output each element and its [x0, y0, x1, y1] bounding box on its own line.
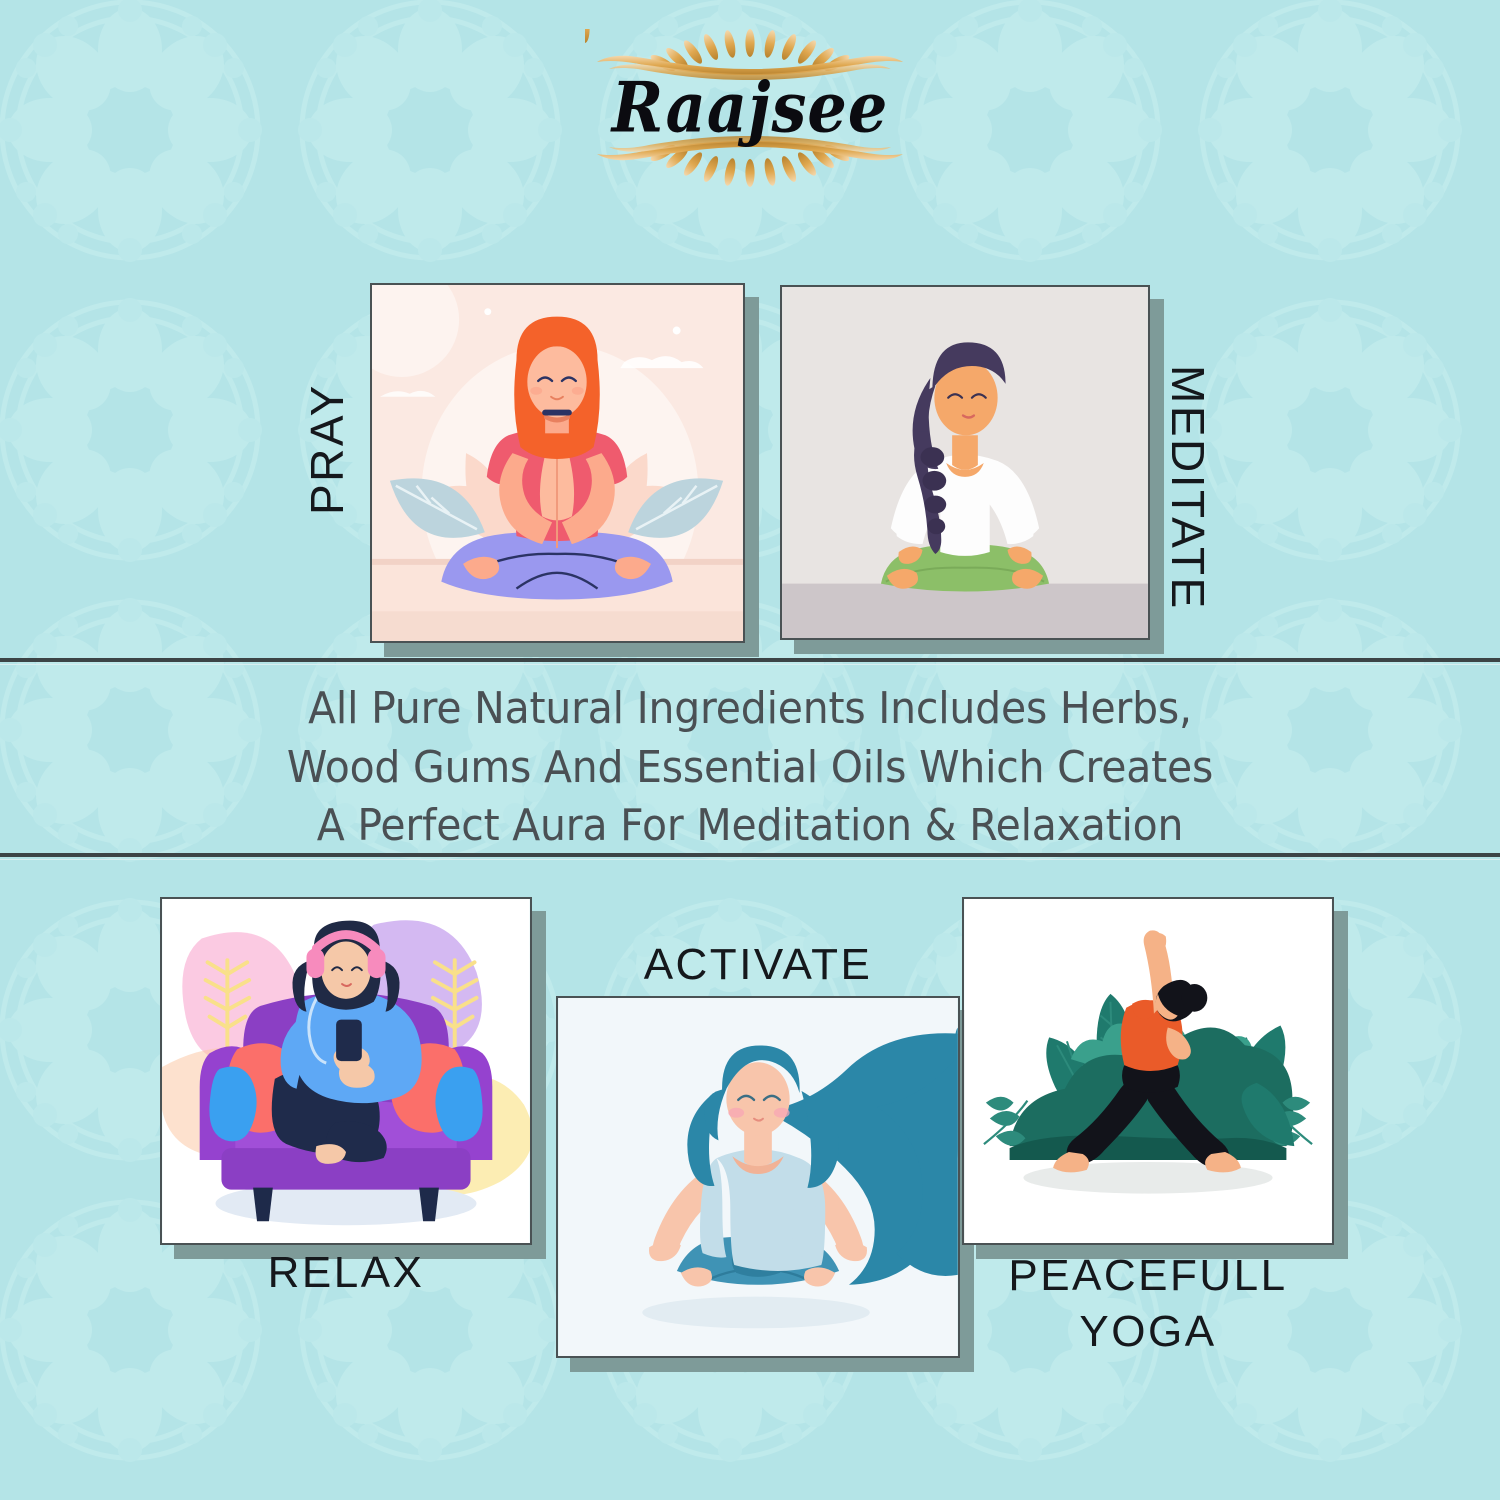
- label-relax: RELAX: [160, 1248, 532, 1298]
- center-copy-line-1: All Pure Natural Ingredients Includes He…: [53, 680, 1448, 739]
- brand-logo: Raajsee: [0, 8, 1500, 208]
- brand-name: Raajsee: [612, 73, 889, 142]
- card-meditate: [780, 285, 1150, 640]
- card-pray: [370, 283, 745, 643]
- divider-top: [0, 658, 1500, 666]
- label-activate: ACTIVATE: [556, 940, 960, 990]
- card-activate: [556, 996, 960, 1358]
- label-pray: PRAY: [300, 383, 354, 515]
- card-relax: [160, 897, 532, 1245]
- woman-long-teal-hair-lotus-illustration: [558, 998, 958, 1356]
- label-peacefull-yoga: PEACEFULL YOGA: [962, 1248, 1334, 1361]
- woman-praying-lotus-illustration: [372, 285, 743, 641]
- divider-thin-line: [0, 859, 1500, 860]
- divider-thin-line: [0, 664, 1500, 665]
- divider-thick-line: [0, 658, 1500, 662]
- center-copy-line-2: Wood Gums And Essential Oils Which Creat…: [53, 739, 1448, 798]
- woman-warrior-pose-foliage-illustration: [964, 899, 1332, 1243]
- center-marketing-copy: All Pure Natural Ingredients Includes He…: [0, 680, 1500, 856]
- center-copy-line-3: A Perfect Aura For Meditation & Relaxati…: [53, 797, 1448, 856]
- card-yoga: [962, 897, 1334, 1245]
- woman-meditating-braid-illustration: [782, 287, 1148, 638]
- woman-armchair-headphones-illustration: [162, 899, 530, 1243]
- label-peacefull-yoga-line2: YOGA: [962, 1304, 1334, 1360]
- label-meditate: MEDITATE: [1161, 365, 1215, 611]
- label-peacefull-yoga-line1: PEACEFULL: [962, 1248, 1334, 1304]
